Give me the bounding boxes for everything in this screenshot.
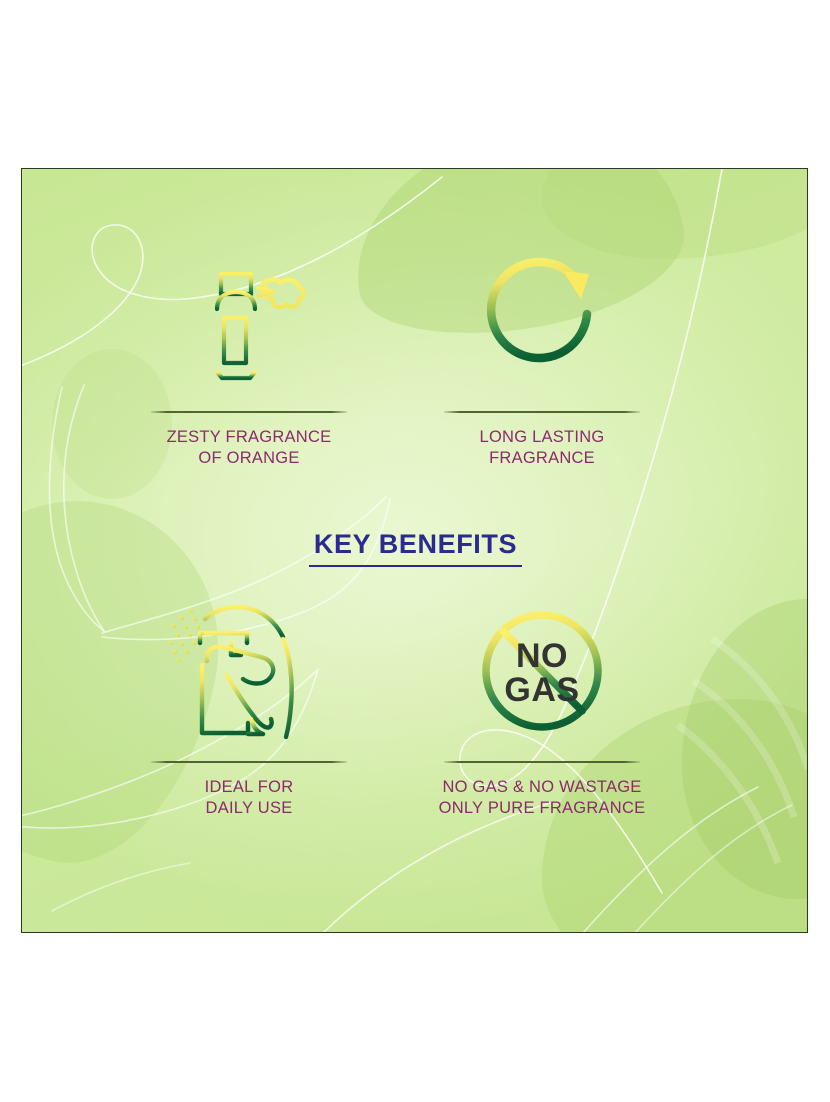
decorative-blob-bottom-right-2: [682, 599, 808, 899]
decorative-blob-top-right-2: [542, 168, 808, 259]
icon-container: [119, 597, 379, 747]
benefit-label: IDEAL FOR DAILY USE: [119, 777, 379, 821]
clock-refresh-icon: [467, 247, 617, 397]
benefit-label: NO GAS & NO WASTAGE ONLY PURE FRAGRANCE: [412, 777, 672, 821]
icon-container: [412, 247, 672, 397]
benefit-divider: [444, 761, 640, 763]
benefit-divider: [444, 411, 640, 413]
icon-container: [119, 247, 379, 397]
key-benefits-panel: ZESTY FRAGRANCE OF ORANGE: [21, 168, 808, 933]
benefit-no-gas: NO GAS NO GAS & NO WASTAGE ONLY PURE FRA…: [412, 597, 672, 820]
benefit-label: ZESTY FRAGRANCE OF ORANGE: [119, 427, 379, 471]
benefit-zesty-fragrance: ZESTY FRAGRANCE OF ORANGE: [119, 247, 379, 470]
spray-can-icon: [174, 247, 324, 397]
no-gas-text-line2: GAS: [504, 671, 579, 709]
page-title: KEY BENEFITS: [309, 529, 522, 567]
key-benefits-title-wrap: KEY BENEFITS: [22, 529, 808, 567]
no-gas-prohibition-icon: NO GAS: [467, 597, 617, 747]
icon-container: NO GAS: [412, 597, 672, 747]
benefit-long-lasting: LONG LASTING FRAGRANCE: [412, 247, 672, 470]
no-gas-text-line1: NO: [516, 637, 568, 675]
benefit-daily-use: IDEAL FOR DAILY USE: [119, 597, 379, 820]
benefit-label: LONG LASTING FRAGRANCE: [412, 427, 672, 471]
infographic-root: ZESTY FRAGRANCE OF ORANGE: [0, 0, 830, 1102]
hand-spray-icon: [169, 597, 329, 747]
benefit-divider: [151, 411, 347, 413]
benefit-divider: [151, 761, 347, 763]
